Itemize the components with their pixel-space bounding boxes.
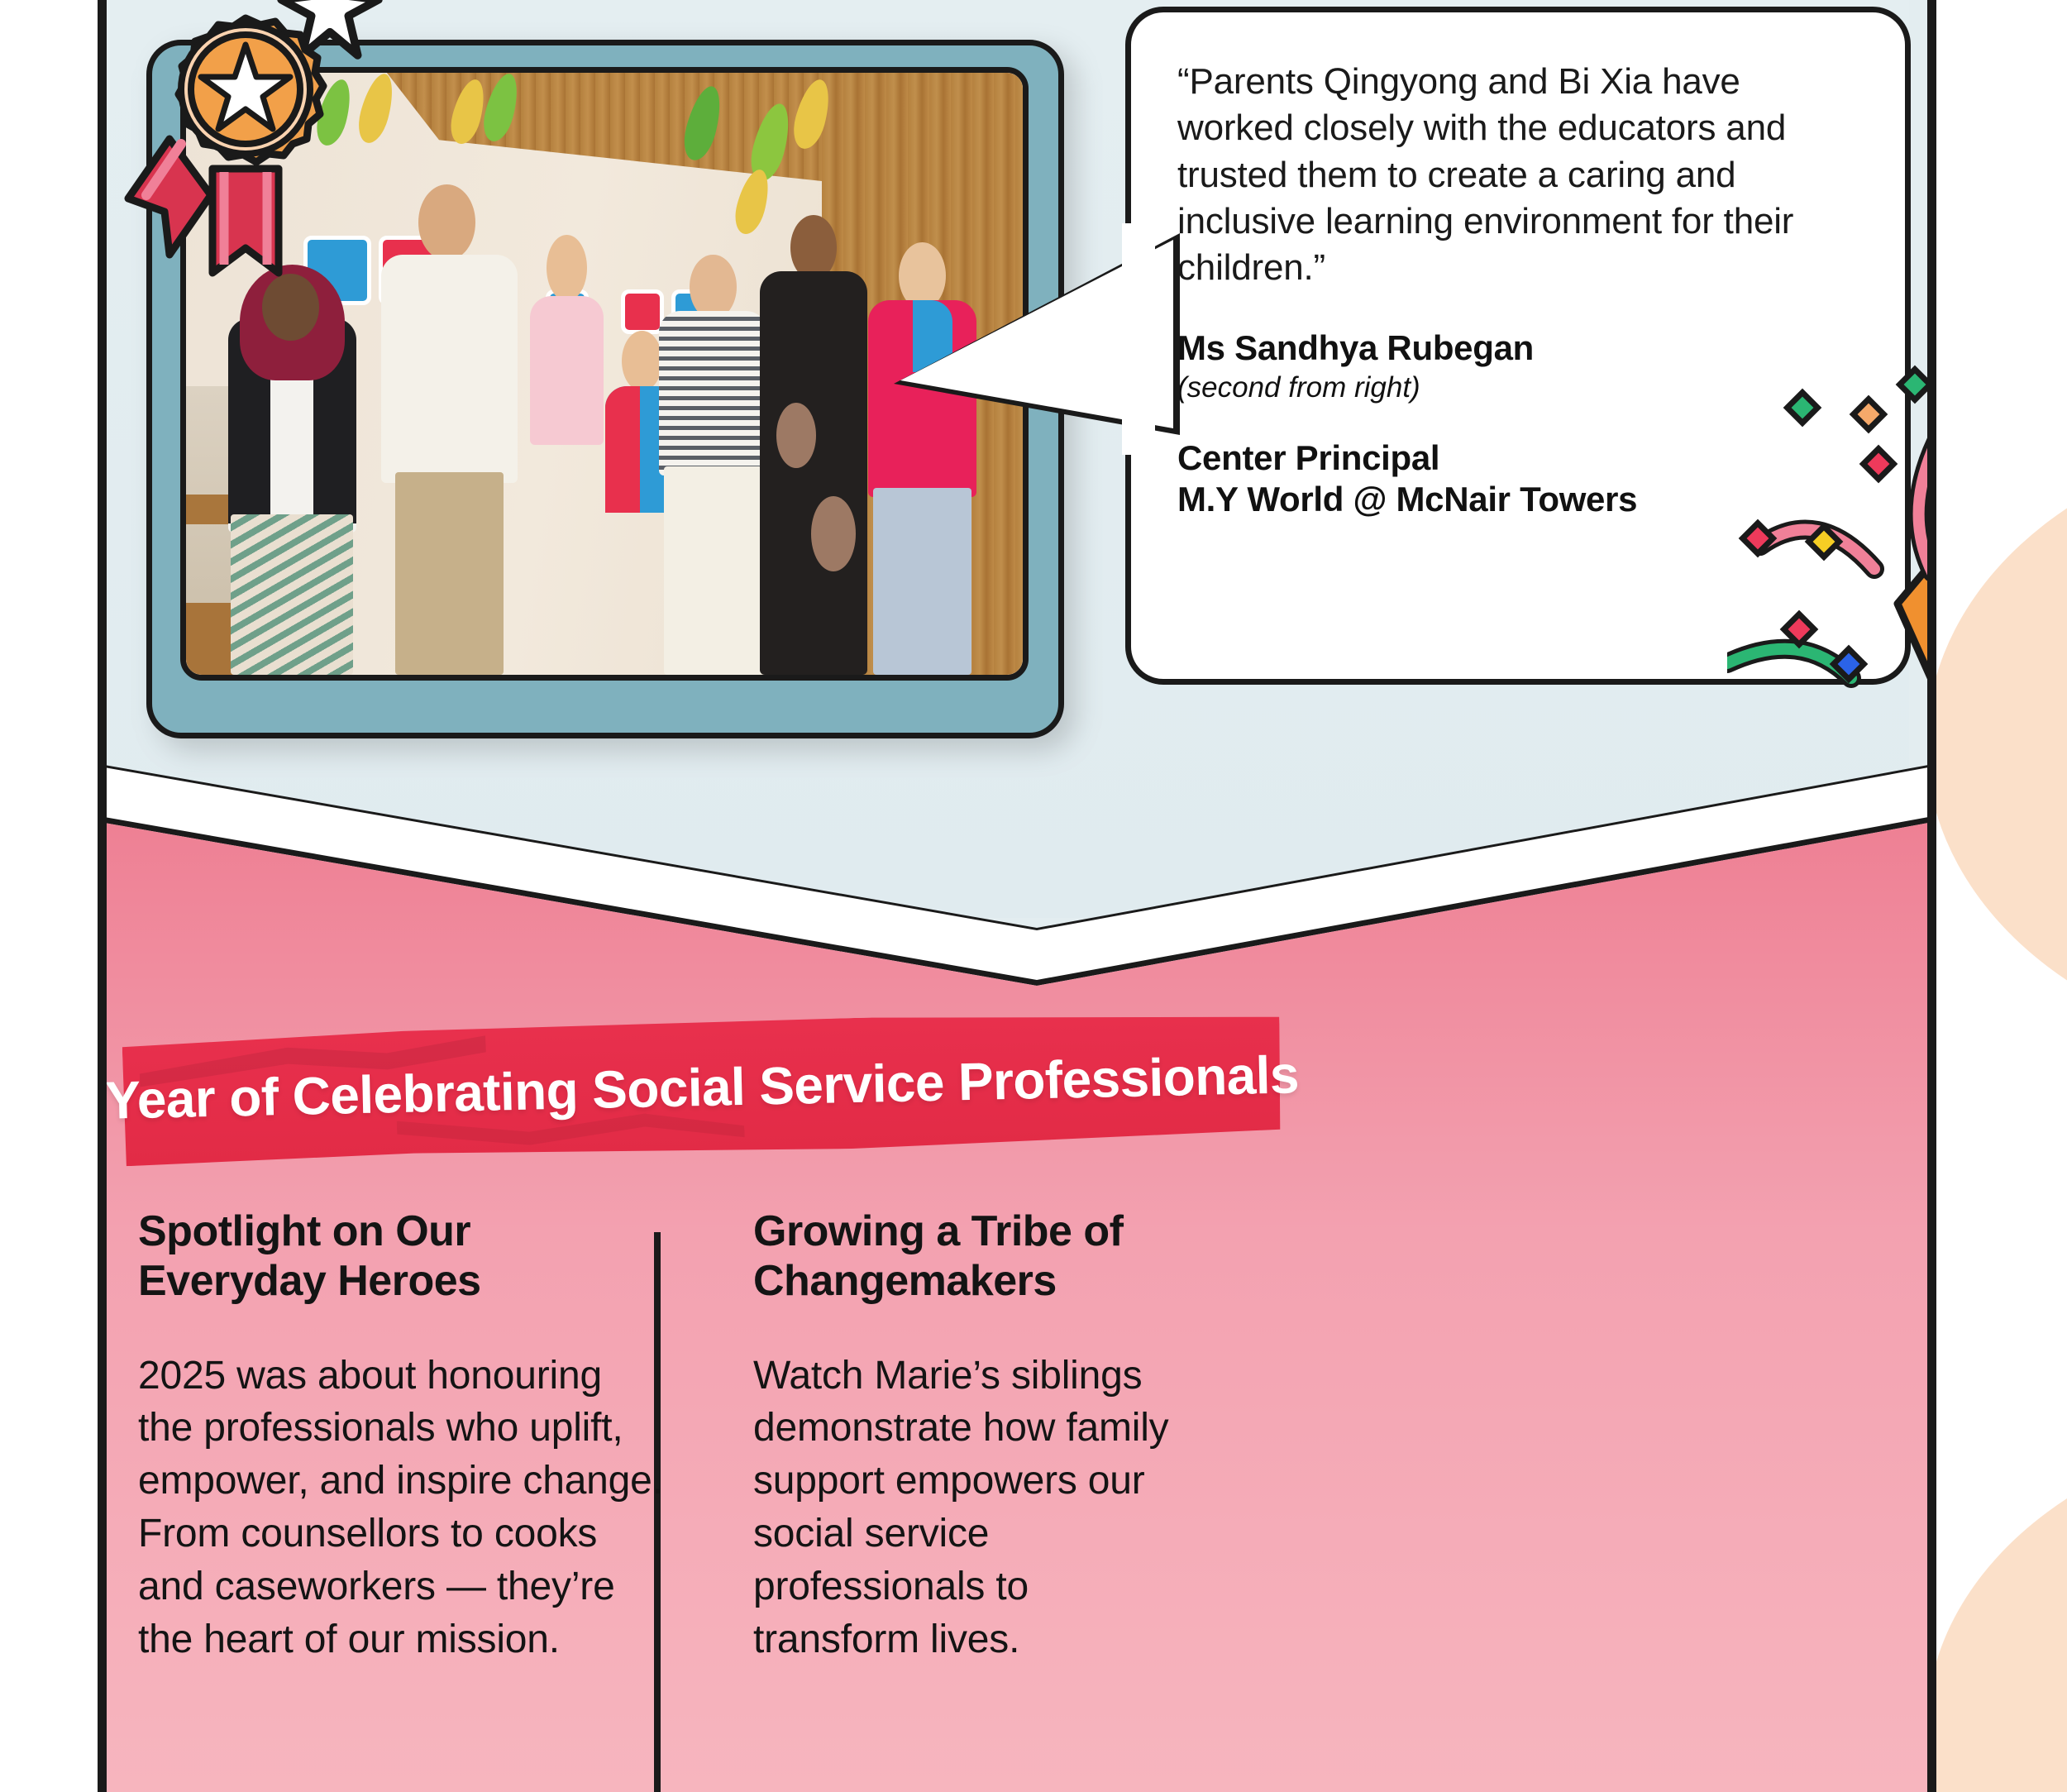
column-body: 2025 was about honouring the professiona…	[138, 1350, 667, 1666]
newsletter-page: “Parents Qingyong and Bi Xia have worked…	[0, 0, 2067, 1792]
banner-title: Year of Celebrating Social Service Profe…	[122, 1009, 1282, 1167]
content-card: “Parents Qingyong and Bi Xia have worked…	[98, 0, 1936, 1792]
award-ribbon-icon	[122, 7, 370, 280]
column-spotlight: Spotlight on Our Everyday Heroes 2025 wa…	[138, 1207, 667, 1666]
peach-curve-bottom	[1926, 1422, 2067, 1792]
party-popper-icon	[1727, 356, 1936, 744]
column-changemakers: Growing a Tribe of Changemakers Watch Ma…	[753, 1207, 1183, 1666]
section-banner: Year of Celebrating Social Service Profe…	[123, 1021, 1297, 1187]
quote-text: “Parents Qingyong and Bi Xia have worked…	[1177, 59, 1862, 292]
peach-curve-top	[1926, 430, 2067, 1058]
column-heading: Spotlight on Our Everyday Heroes	[138, 1207, 667, 1307]
columns-container: Spotlight on Our Everyday Heroes 2025 wa…	[107, 1207, 1909, 1786]
column-body: Watch Marie’s siblings demonstrate how f…	[753, 1350, 1183, 1666]
column-heading: Growing a Tribe of Changemakers	[753, 1207, 1183, 1307]
white-lens-shape	[1951, 934, 2067, 1513]
